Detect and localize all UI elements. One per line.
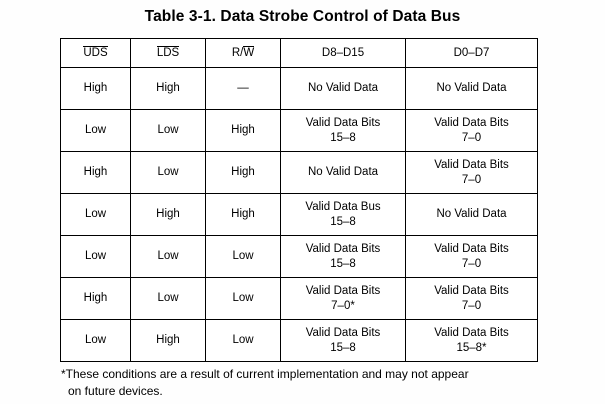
uds-overline-label: UDS (83, 46, 107, 60)
cell-d0-d7-line1: Valid Data Bits (408, 284, 535, 299)
cell-uds: Low (61, 110, 131, 152)
cell-lds: Low (131, 152, 206, 194)
cell-rw: High (206, 194, 281, 236)
cell-d8-d15: Valid Data Bits 7–0* (281, 278, 406, 320)
cell-d0-d7-line1: Valid Data Bits (408, 326, 535, 341)
table-title: Table 3-1. Data Strobe Control of Data B… (0, 8, 605, 26)
table-body: High High — No Valid Data No Valid Data … (61, 68, 538, 362)
cell-d0-d7-line2: 15–8* (408, 341, 535, 356)
cell-d0-d7-line2: 7–0 (408, 131, 535, 146)
rw-write-overline-label: W (243, 46, 254, 60)
cell-d8-d15-line2: 15–8 (283, 257, 403, 272)
lds-overline-label: LDS (157, 46, 179, 60)
footnote-line-1: *These conditions are a result of curren… (61, 367, 469, 381)
cell-uds: Low (61, 194, 131, 236)
table-row: High Low Low Valid Data Bits 7–0* Valid … (61, 278, 538, 320)
cell-d8-d15-line2: 15–8 (283, 215, 403, 230)
cell-d0-d7-line2: 7–0 (408, 173, 535, 188)
cell-d0-d7: Valid Data Bits 7–0 (406, 278, 538, 320)
cell-d8-d15: Valid Data Bus 15–8 (281, 194, 406, 236)
cell-d8-d15-line2: 15–8 (283, 131, 403, 146)
column-header-d8-d15: D8–D15 (281, 39, 406, 68)
cell-d0-d7-line2: 7–0 (408, 257, 535, 272)
cell-d0-d7: Valid Data Bits 7–0 (406, 110, 538, 152)
cell-rw: High (206, 110, 281, 152)
cell-lds: Low (131, 110, 206, 152)
cell-uds: Low (61, 236, 131, 278)
cell-d8-d15-line2: 15–8 (283, 341, 403, 356)
cell-d8-d15-line1: Valid Data Bits (283, 284, 403, 299)
cell-d0-d7: Valid Data Bits 15–8* (406, 320, 538, 362)
table-row: High Low High No Valid Data Valid Data B… (61, 152, 538, 194)
cell-d0-d7-line1: Valid Data Bits (408, 242, 535, 257)
cell-lds: Low (131, 278, 206, 320)
cell-d0-d7: Valid Data Bits 7–0 (406, 152, 538, 194)
table-row: Low Low Low Valid Data Bits 15–8 Valid D… (61, 236, 538, 278)
cell-d0-d7-line1: No Valid Data (408, 207, 535, 222)
cell-lds: High (131, 68, 206, 110)
table-row: Low High High Valid Data Bus 15–8 No Val… (61, 194, 538, 236)
table-header: UDS LDS R/W D8–D15 D0–D7 (61, 39, 538, 68)
cell-d0-d7: No Valid Data (406, 68, 538, 110)
cell-d8-d15-line1: No Valid Data (283, 81, 403, 96)
column-header-lds: LDS (131, 39, 206, 68)
table-row: Low High Low Valid Data Bits 15–8 Valid … (61, 320, 538, 362)
table-row: High High — No Valid Data No Valid Data (61, 68, 538, 110)
cell-d8-d15-line1: Valid Data Bus (283, 200, 403, 215)
cell-d0-d7-line1: Valid Data Bits (408, 158, 535, 173)
cell-uds: Low (61, 320, 131, 362)
cell-d0-d7: Valid Data Bits 7–0 (406, 236, 538, 278)
table-row: Low Low High Valid Data Bits 15–8 Valid … (61, 110, 538, 152)
cell-d0-d7-line1: Valid Data Bits (408, 116, 535, 131)
data-strobe-control-table: UDS LDS R/W D8–D15 D0–D7 High High — (60, 38, 538, 362)
rw-prefix-label: R/ (232, 47, 244, 60)
table-header-row: UDS LDS R/W D8–D15 D0–D7 (61, 39, 538, 68)
cell-rw: Low (206, 320, 281, 362)
cell-d8-d15-line1: Valid Data Bits (283, 116, 403, 131)
column-header-d0-d7: D0–D7 (406, 39, 538, 68)
footnote-line-2: on future devices. (61, 383, 561, 400)
document-page: Table 3-1. Data Strobe Control of Data B… (0, 0, 605, 404)
cell-uds: High (61, 68, 131, 110)
cell-d8-d15-line1: Valid Data Bits (283, 326, 403, 341)
column-header-uds: UDS (61, 39, 131, 68)
cell-d0-d7-line1: No Valid Data (408, 81, 535, 96)
cell-rw: Low (206, 278, 281, 320)
table-footnote: *These conditions are a result of curren… (61, 366, 561, 400)
cell-d8-d15-line1: Valid Data Bits (283, 242, 403, 257)
cell-uds: High (61, 152, 131, 194)
cell-d0-d7: No Valid Data (406, 194, 538, 236)
cell-lds: High (131, 320, 206, 362)
cell-d8-d15-line1: No Valid Data (283, 165, 403, 180)
cell-d8-d15: Valid Data Bits 15–8 (281, 110, 406, 152)
cell-rw: — (206, 68, 281, 110)
cell-lds: Low (131, 236, 206, 278)
table-container: UDS LDS R/W D8–D15 D0–D7 High High — (60, 38, 537, 362)
cell-rw: Low (206, 236, 281, 278)
cell-d8-d15: Valid Data Bits 15–8 (281, 236, 406, 278)
cell-d8-d15: No Valid Data (281, 68, 406, 110)
cell-uds: High (61, 278, 131, 320)
cell-rw: High (206, 152, 281, 194)
cell-d8-d15: No Valid Data (281, 152, 406, 194)
cell-lds: High (131, 194, 206, 236)
cell-d8-d15-line2: 7–0* (283, 299, 403, 314)
column-header-rw: R/W (206, 39, 281, 68)
cell-d8-d15: Valid Data Bits 15–8 (281, 320, 406, 362)
cell-d0-d7-line2: 7–0 (408, 299, 535, 314)
